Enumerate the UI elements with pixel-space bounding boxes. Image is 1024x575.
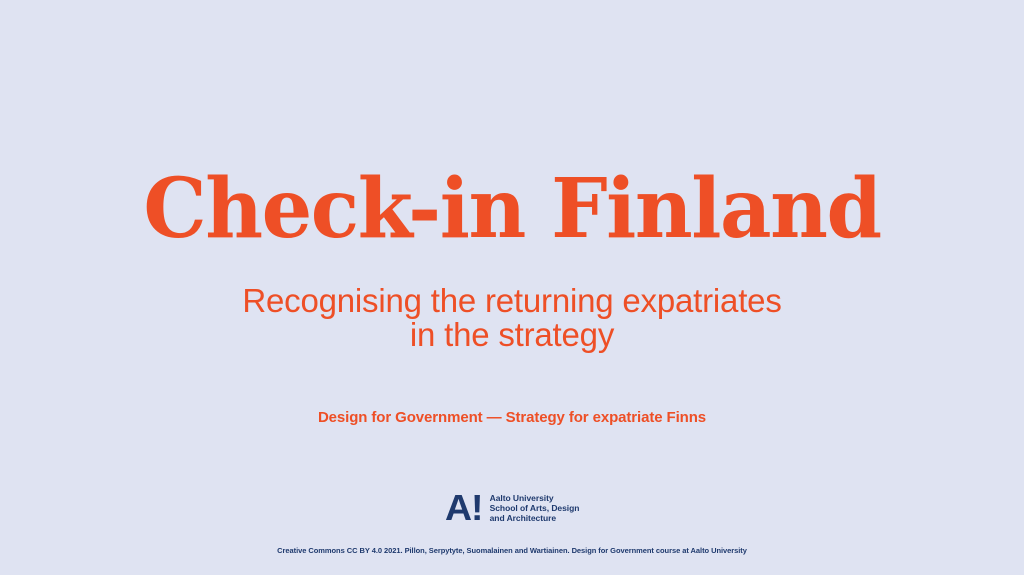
course-container: Design for Government — Strategy for exp… — [0, 408, 1024, 427]
course-label: Design for Government — Strategy for exp… — [0, 408, 1024, 427]
aalto-logo-line-3: and Architecture — [490, 513, 580, 523]
aalto-logo-inner: A! Aalto University School of Arts, Desi… — [445, 493, 580, 523]
subtitle-line-1: Recognising the returning expatriates — [0, 284, 1024, 318]
page-title: Check-in Finland — [15, 168, 1008, 250]
aalto-logo-text: Aalto University School of Arts, Design … — [490, 493, 580, 523]
aalto-logo-line-2: School of Arts, Design — [490, 503, 580, 513]
title-slide: Check-in Finland Recognising the returni… — [0, 0, 1024, 575]
subtitle-container: Recognising the returning expatriates in… — [0, 284, 1024, 352]
subtitle: Recognising the returning expatriates in… — [0, 284, 1024, 352]
subtitle-line-2: in the strategy — [0, 318, 1024, 352]
aalto-logo: A! Aalto University School of Arts, Desi… — [0, 493, 1024, 523]
license-credit: Creative Commons CC BY 4.0 2021. Pillon,… — [0, 546, 1024, 556]
footer-container: Creative Commons CC BY 4.0 2021. Pillon,… — [0, 546, 1024, 556]
aalto-logo-line-1: Aalto University — [490, 493, 580, 503]
title-container: Check-in Finland — [0, 168, 1024, 250]
aalto-a-exclamation-icon: A! — [445, 493, 482, 523]
